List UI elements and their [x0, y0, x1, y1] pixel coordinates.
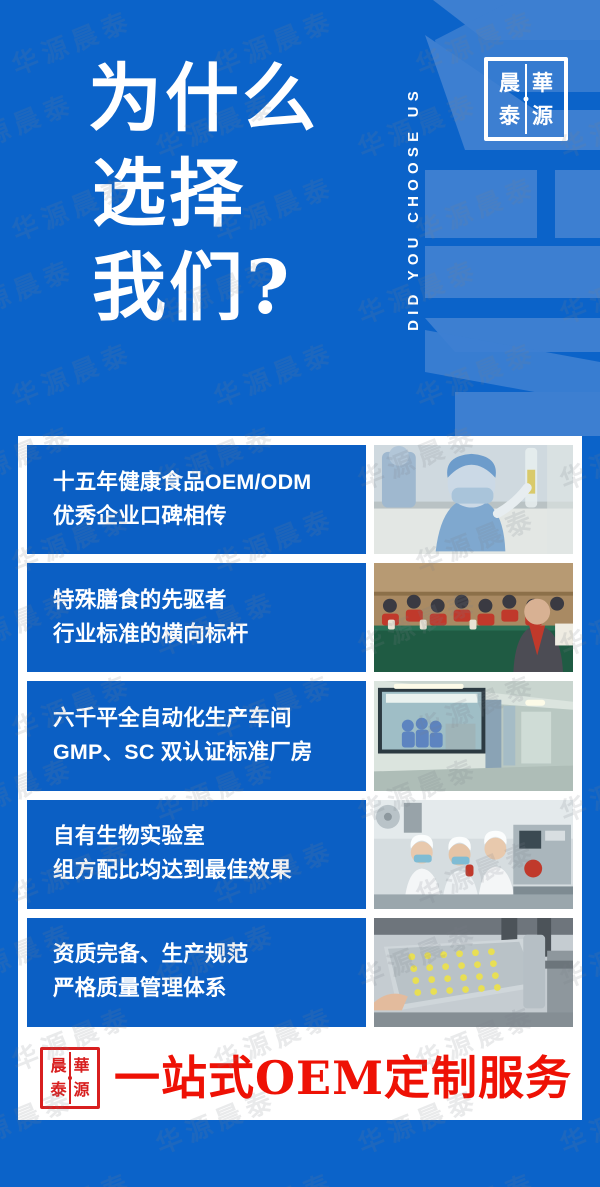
feature-line-1: 自有生物实验室: [53, 820, 366, 854]
cta-text: 一站式OEM定制服务: [114, 1055, 572, 1101]
feature-line-2: GMP、SC 双认证标准厂房: [53, 736, 366, 770]
feature-card-text: 六千平全自动化生产车间 GMP、SC 双认证标准厂房: [27, 681, 366, 790]
feature-photo-cleanroom-corridor: [374, 681, 573, 790]
poster-root: DID YOU CHOOSE US 晨 華 泰 源 为什么 选择 我们? 十五年…: [0, 0, 600, 1187]
seal-char-chen: 晨: [493, 66, 526, 99]
feature-photo-conference-audience: [374, 563, 573, 672]
feature-cards: 十五年健康食品OEM/ODM 优秀企业口碑相传: [27, 445, 573, 1027]
bottom-cta-banner[interactable]: 晨 華 泰 源 一站式OEM定制服务: [18, 1036, 582, 1120]
seal-center-dot: [524, 97, 529, 102]
brand-seal-white: 晨 華 泰 源: [484, 57, 568, 141]
feature-card[interactable]: 六千平全自动化生产车间 GMP、SC 双认证标准厂房: [27, 681, 573, 790]
feature-line-1: 十五年健康食品OEM/ODM: [53, 466, 366, 500]
feature-line-2: 组方配比均达到最佳效果: [53, 854, 366, 888]
feature-photo-blister-packing: [374, 918, 573, 1027]
seal-char-hua: 華: [526, 66, 559, 99]
seal-char-hua: 華: [70, 1054, 93, 1078]
watermark-text: 华源晨泰: [6, 1162, 139, 1187]
seal-center-dot: [68, 1076, 72, 1080]
headline-line-2: 选择: [88, 147, 388, 242]
seal-char-yuan: 源: [526, 99, 559, 132]
page-title: 为什么 选择 我们?: [88, 52, 388, 336]
feature-card[interactable]: 资质完备、生产规范 严格质量管理体系: [27, 918, 573, 1027]
watermark-text: 华源晨泰: [410, 1162, 543, 1187]
feature-card[interactable]: 特殊膳食的先驱者 行业标准的横向标杆: [27, 563, 573, 672]
feature-line-2: 行业标准的横向标杆: [53, 618, 366, 652]
feature-card[interactable]: 十五年健康食品OEM/ODM 优秀企业口碑相传: [27, 445, 573, 554]
vertical-caption-text: DID YOU CHOOSE US: [405, 86, 422, 331]
feature-card-text: 特殊膳食的先驱者 行业标准的横向标杆: [27, 563, 366, 672]
feature-line-1: 特殊膳食的先驱者: [53, 584, 366, 618]
watermark-text: 华源晨泰: [0, 249, 80, 331]
feature-card-text: 十五年健康食品OEM/ODM 优秀企业口碑相传: [27, 445, 366, 554]
vertical-caption: DID YOU CHOOSE US: [396, 8, 430, 408]
headline-line-3: 我们?: [88, 241, 388, 336]
brand-seal-red: 晨 華 泰 源: [40, 1047, 100, 1109]
watermark-text: 华源晨泰: [0, 83, 80, 165]
feature-line-2: 优秀企业口碑相传: [53, 500, 366, 534]
feature-photo-lab-technician: [374, 445, 573, 554]
feature-card-text: 资质完备、生产规范 严格质量管理体系: [27, 918, 366, 1027]
seal-char-tai: 泰: [47, 1078, 70, 1102]
feature-list-frame: 十五年健康食品OEM/ODM 优秀企业口碑相传: [18, 436, 582, 1036]
headline-line-1: 为什么: [88, 52, 388, 147]
feature-card-text: 自有生物实验室 组方配比均达到最佳效果: [27, 800, 366, 909]
feature-line-1: 六千平全自动化生产车间: [53, 702, 366, 736]
feature-card[interactable]: 自有生物实验室 组方配比均达到最佳效果: [27, 800, 573, 909]
feature-line-2: 严格质量管理体系: [53, 972, 366, 1006]
feature-line-1: 资质完备、生产规范: [53, 938, 366, 972]
watermark-text: 华源晨泰: [208, 332, 341, 414]
watermark-text: 华源晨泰: [6, 332, 139, 414]
feature-photo-packaging-line: [374, 800, 573, 909]
watermark-text: 华源晨泰: [208, 1162, 341, 1187]
seal-char-tai: 泰: [493, 99, 526, 132]
seal-char-chen: 晨: [47, 1054, 70, 1078]
seal-char-yuan: 源: [70, 1078, 93, 1102]
watermark-text: 华源晨泰: [554, 249, 600, 331]
